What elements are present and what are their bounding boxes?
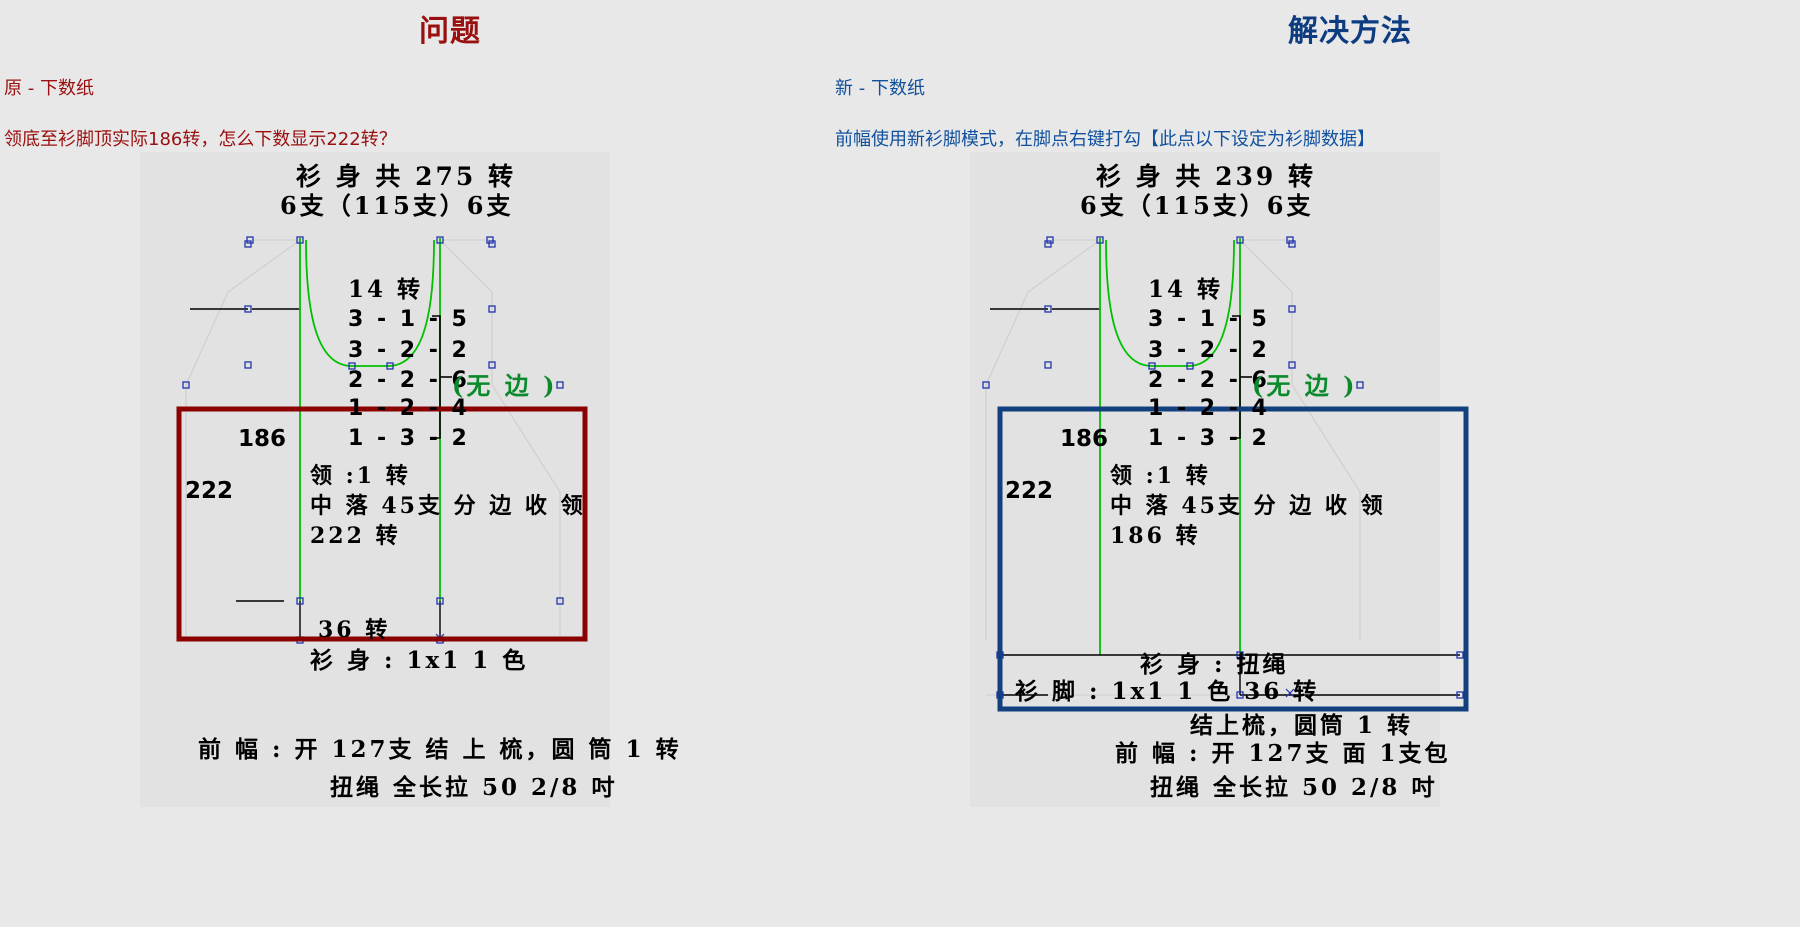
right-body-turns: 186 转	[1110, 518, 1201, 550]
right-note: 前幅使用新衫脚模式，在脚点右键打勾【此点以下设定为衫脚数据】	[835, 125, 1375, 151]
left-body-turns: 222 转	[310, 518, 401, 550]
left-header-line2: 6支（115支）6支	[280, 186, 514, 221]
right-footer-line2: 前 幅 : 开 127支 面 1支包	[1115, 734, 1451, 768]
left-panel: 问题 原 - 下数纸 领底至衫脚顶实际186转，怎么下数显示222转？	[0, 0, 900, 927]
right-shaping-note: (无 边 )	[1252, 366, 1357, 401]
left-footer-line2: 扭绳 全长拉 50 2/8 吋	[330, 768, 617, 802]
right-hem-spec: 衫 脚 : 1x1 1 色 36 转	[1015, 672, 1319, 706]
right-shaping-1: 3 - 2 - 2	[1148, 338, 1270, 363]
left-collar: 领 :1 转	[310, 458, 411, 490]
right-panel: 解决方法 新 - 下数纸 前幅使用新衫脚模式，在脚点右键打勾【此点以下设定为衫脚…	[900, 0, 1800, 927]
left-shaping-4: 1 - 3 - 2	[348, 426, 470, 451]
left-footer-line1: 前 幅 : 开 127支 结 上 梳，圆 筒 1 转	[198, 730, 682, 764]
right-neck-turns: 14 转	[1148, 270, 1223, 304]
right-shaping-0: 3 - 1 - 5	[1148, 307, 1270, 332]
left-measure-upper: 186	[238, 426, 286, 452]
left-measure-lower: 222	[185, 478, 233, 504]
right-panel-title: 解决方法	[900, 6, 1800, 50]
right-measure-upper: 186	[1060, 426, 1108, 452]
right-measure-lower: 222	[1005, 478, 1053, 504]
left-shaping-0: 3 - 1 - 5	[348, 307, 470, 332]
left-note: 领底至衫脚顶实际186转，怎么下数显示222转？	[4, 125, 397, 151]
left-sub-label: 原 - 下数纸	[4, 74, 94, 100]
right-center-drop: 中 落 45支 分 边 收 领	[1110, 488, 1386, 520]
right-shaping-4: 1 - 3 - 2	[1148, 426, 1270, 451]
left-neck-turns: 14 转	[348, 270, 423, 304]
left-hem-turns: 36 转	[318, 612, 390, 644]
right-sub-label: 新 - 下数纸	[835, 74, 925, 100]
left-shaping-1: 3 - 2 - 2	[348, 338, 470, 363]
left-panel-title: 问题	[0, 6, 900, 50]
right-header-line2: 6支（115支）6支	[1080, 186, 1314, 221]
right-collar: 领 :1 转	[1110, 458, 1211, 490]
right-footer-line3: 扭绳 全长拉 50 2/8 吋	[1150, 768, 1437, 802]
left-shaping-note: (无 边 )	[452, 366, 557, 401]
page-root: 问题 原 - 下数纸 领底至衫脚顶实际186转，怎么下数显示222转？	[0, 0, 1800, 927]
left-body-spec: 衫 身 : 1x1 1 色	[310, 641, 528, 675]
left-center-drop: 中 落 45支 分 边 收 领	[310, 488, 586, 520]
